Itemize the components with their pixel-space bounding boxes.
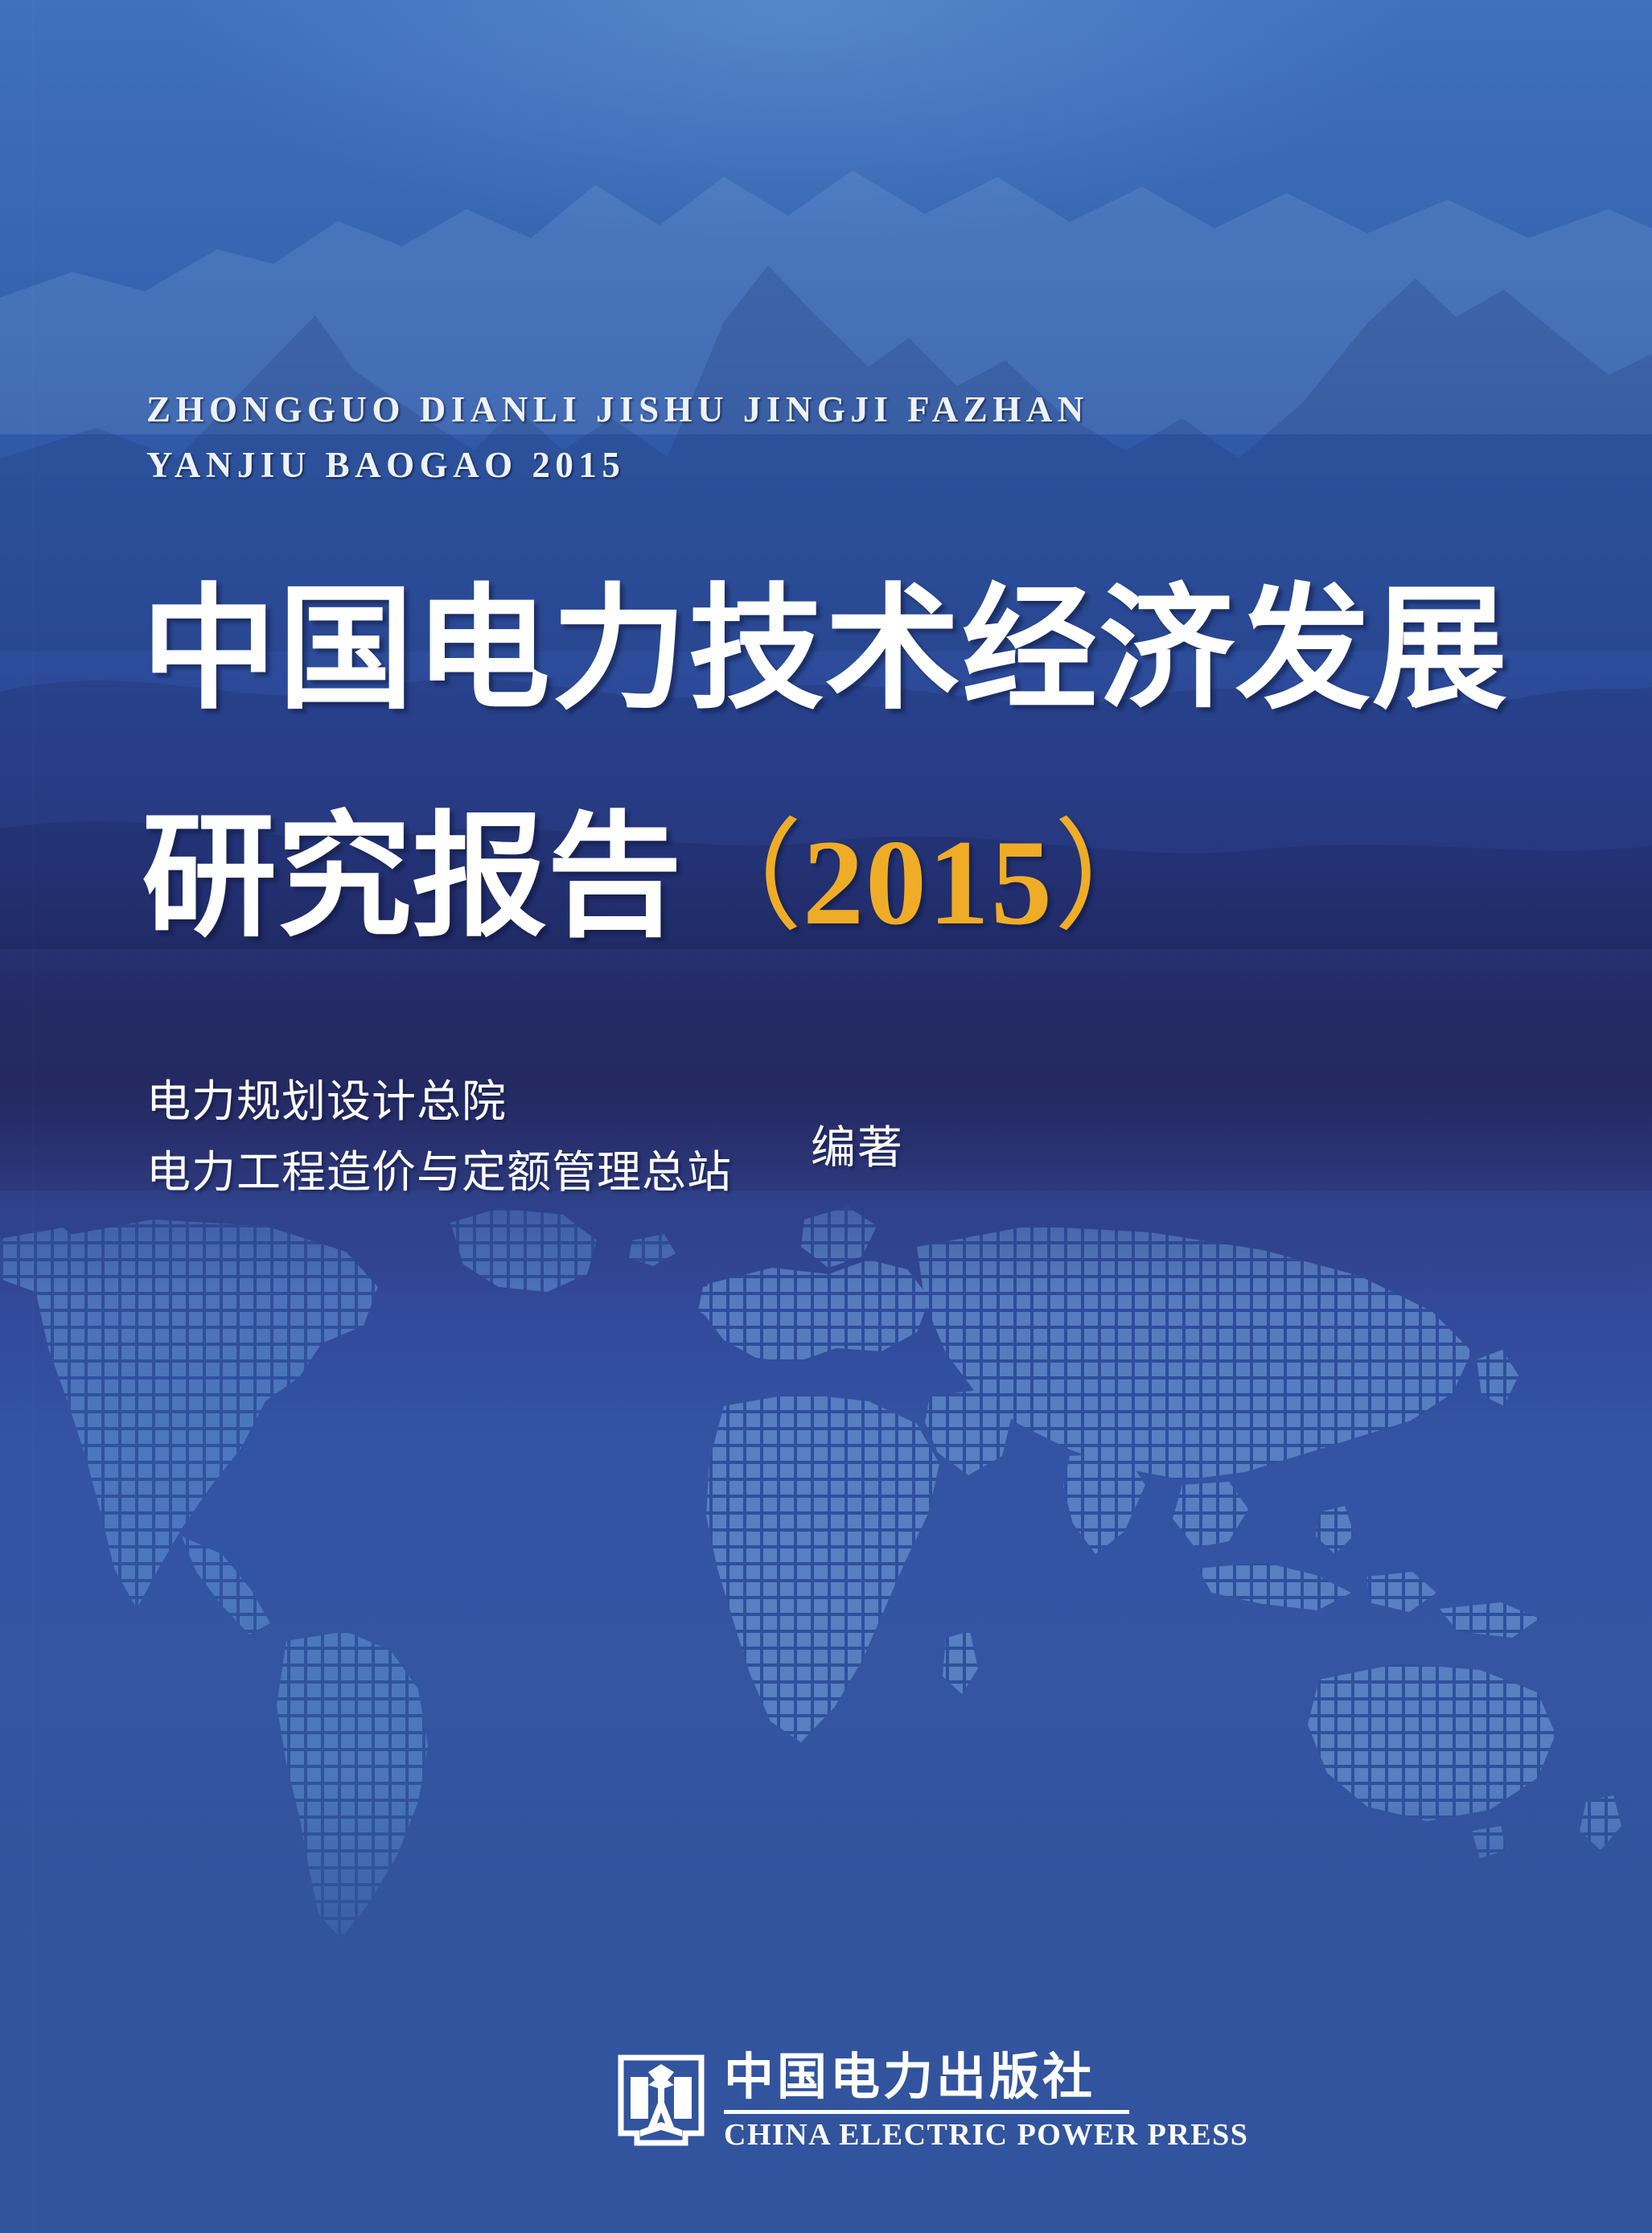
year-badge: 2015 [803,815,1054,950]
svg-text:中国电力出版社: 中国电力出版社 [724,2048,1095,2104]
publisher-text: 中国电力出版社 CHINA ELECTRIC POWER PRESS [724,2048,1248,2153]
author-list: 电力规划设计总院 电力工程造价与定额管理总站 [146,1066,732,1207]
publisher-name-en: CHINA ELECTRIC POWER PRESS [724,2117,1248,2153]
publisher-divider [724,2110,1129,2114]
publisher-logo: 中国电力出版社 CHINA ELECTRIC POWER PRESS [616,2048,1248,2153]
page-title-line2-row: 研究报告（2015） [142,807,1174,953]
book-cover: ZHONGGUO DIANLI JISHU JINGJI FAZHAN YANJ… [0,0,1652,2233]
publisher-name-cn: 中国电力出版社 [724,2048,1129,2104]
continents [0,1207,1621,1939]
year-close-paren: ） [1054,812,1174,945]
author-line-1: 电力规划设计总院 [146,1066,732,1137]
year-open-paren: （ [682,812,803,945]
open-book-icon [616,2053,706,2148]
author-line-2: 电力工程造价与定额管理总站 [146,1137,732,1207]
world-map-graphic [0,1191,1652,2003]
page-title-line1: 中国电力技术经济发展 [142,579,1509,720]
page-title-line2: 研究报告 [142,798,682,956]
pinyin-subtitle: ZHONGGUO DIANLI JISHU JINGJI FAZHAN YANJ… [146,382,1353,493]
byline-label: 编著 [811,1112,904,1177]
